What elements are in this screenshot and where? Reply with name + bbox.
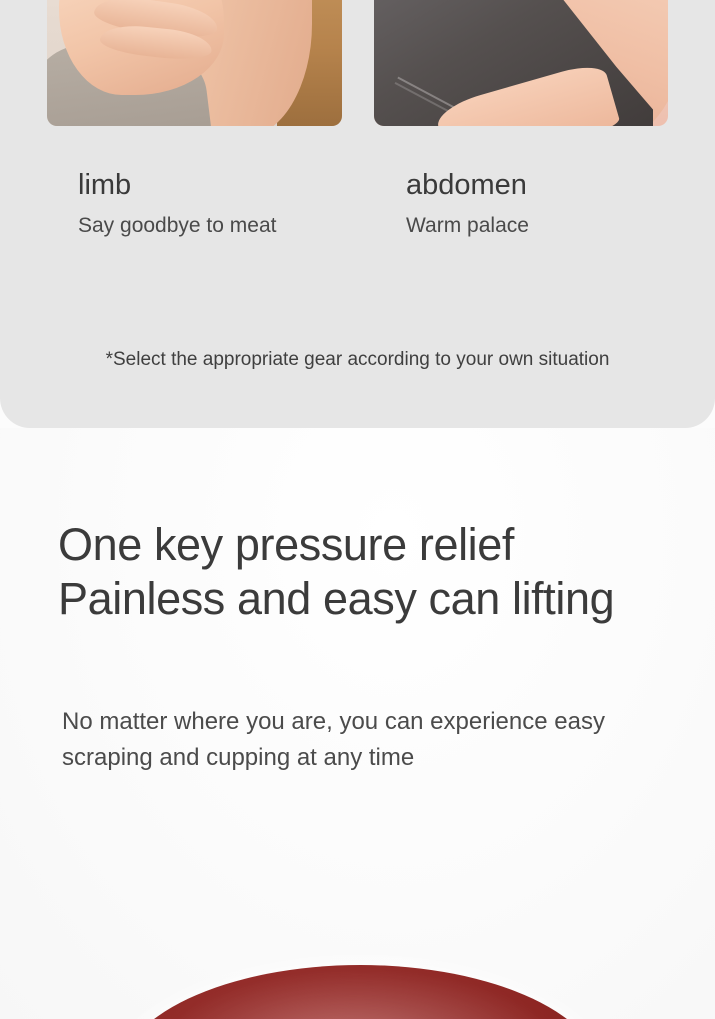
feature-section: One key pressure relief Painless and eas…	[0, 428, 715, 1019]
abdomen-usage-photo	[374, 0, 668, 126]
category-limb-title: limb	[78, 168, 276, 202]
category-abdomen-subtitle: Warm palace	[406, 213, 529, 239]
feature-headline-line-2: Painless and easy can lifting	[58, 572, 614, 626]
category-limb: limb Say goodbye to meat	[78, 168, 276, 239]
feature-body-copy: No matter where you are, you can experie…	[62, 704, 605, 776]
feature-headline-line-1: One key pressure relief	[58, 518, 614, 572]
feature-body-line-2: scraping and cupping at any time	[62, 740, 605, 776]
product-detail-page: limb Say goodbye to meat abdomen Warm pa…	[0, 0, 715, 1019]
usage-scenarios-panel: limb Say goodbye to meat abdomen Warm pa…	[0, 0, 715, 428]
limb-photo-artwork	[47, 0, 342, 126]
feature-headline: One key pressure relief Painless and eas…	[58, 518, 614, 626]
gear-selection-note: *Select the appropriate gear according t…	[0, 347, 715, 373]
feature-body-line-1: No matter where you are, you can experie…	[62, 704, 605, 740]
category-abdomen: abdomen Warm palace	[406, 168, 529, 239]
abdomen-photo-artwork	[374, 0, 668, 126]
category-limb-subtitle: Say goodbye to meat	[78, 213, 276, 239]
limb-usage-photo	[47, 0, 342, 126]
product-device-highlight	[150, 968, 570, 1019]
category-abdomen-title: abdomen	[406, 168, 529, 202]
